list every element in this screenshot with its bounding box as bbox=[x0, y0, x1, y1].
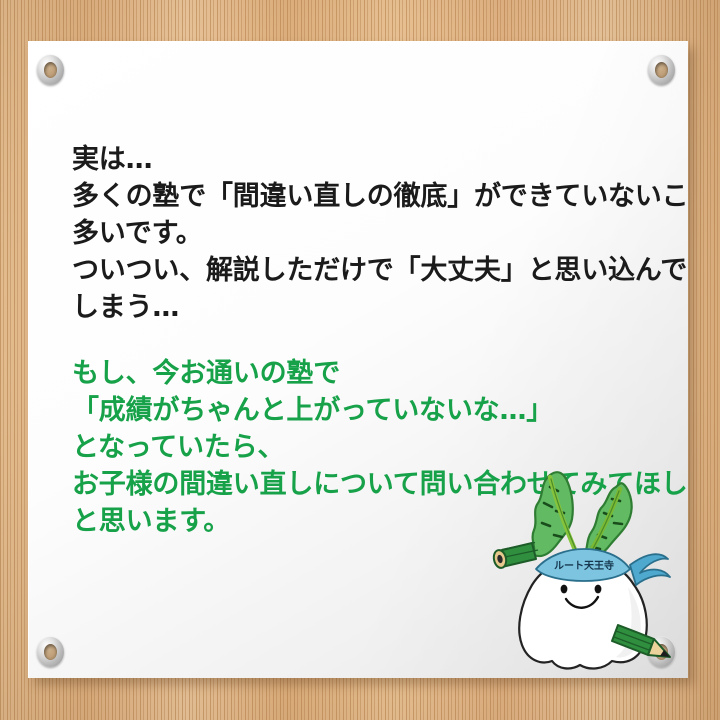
grommet-bottom-left bbox=[37, 637, 64, 667]
turnip-mascot: ルート天王寺 bbox=[488, 447, 678, 677]
black-paragraph: 実は… 多くの塾で「間違い直しの徹底」ができていないことが 多いです。 ついつい… bbox=[72, 141, 688, 326]
black-line-5: しまう… bbox=[72, 289, 688, 326]
grommet-top-left bbox=[37, 55, 64, 85]
pencil-ear-icon bbox=[492, 543, 538, 570]
grommet-top-right bbox=[648, 55, 675, 85]
black-line-1: 実は… bbox=[72, 141, 688, 178]
black-line-2: 多くの塾で「間違い直しの徹底」ができていないことが bbox=[72, 178, 688, 215]
green-line-1: もし、今お通いの塾で bbox=[72, 355, 688, 392]
green-line-2: 「成績がちゃんと上がっていないな…」 bbox=[72, 392, 688, 429]
headband-label: ルート天王寺 bbox=[554, 559, 614, 572]
black-line-4: ついつい、解説しただけで「大丈夫」と思い込んで bbox=[72, 252, 688, 289]
black-line-3: 多いです。 bbox=[72, 215, 688, 252]
